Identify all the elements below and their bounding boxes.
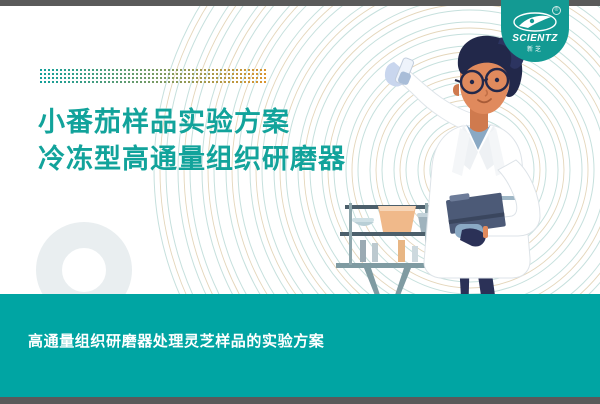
dot-grid-dot bbox=[108, 77, 110, 79]
dot-grid-dot bbox=[156, 73, 158, 75]
dot-grid-dot bbox=[180, 81, 182, 83]
dot-grid-dot bbox=[168, 81, 170, 83]
arm-with-clipboard bbox=[445, 160, 540, 247]
dot-grid-dot bbox=[184, 81, 186, 83]
dot-grid-dot bbox=[136, 69, 138, 71]
dot-grid-dot bbox=[136, 81, 138, 83]
dot-grid-dot bbox=[140, 73, 142, 75]
dot-grid-dot bbox=[48, 81, 50, 83]
dot-grid-dot bbox=[116, 73, 118, 75]
dot-grid-dot bbox=[68, 73, 70, 75]
dot-grid-dot bbox=[204, 69, 206, 71]
dot-grid-dot bbox=[84, 77, 86, 79]
dot-grid-dot bbox=[96, 81, 98, 83]
dot-grid-dot bbox=[84, 73, 86, 75]
dot-grid-dot bbox=[72, 69, 74, 71]
dot-grid-dot bbox=[176, 77, 178, 79]
dot-grid-dot bbox=[80, 69, 82, 71]
dot-grid-dot bbox=[228, 81, 230, 83]
dot-grid-dot bbox=[232, 69, 234, 71]
dot-grid-dot bbox=[144, 73, 146, 75]
dot-grid-dot bbox=[220, 77, 222, 79]
dot-grid-dot bbox=[100, 73, 102, 75]
dot-grid-dot bbox=[64, 69, 66, 71]
dot-grid-dot bbox=[64, 73, 66, 75]
dot-grid-dot bbox=[176, 73, 178, 75]
dot-grid-dot bbox=[144, 77, 146, 79]
dot-grid-dot bbox=[188, 81, 190, 83]
dot-grid-dot bbox=[80, 73, 82, 75]
dot-grid-dot bbox=[140, 81, 142, 83]
dot-grid-dot bbox=[48, 69, 50, 71]
dot-grid-row bbox=[40, 81, 268, 83]
dot-grid-dot bbox=[108, 73, 110, 75]
dot-grid-dot bbox=[100, 81, 102, 83]
dot-grid-dot bbox=[128, 77, 130, 79]
dot-grid-dot bbox=[136, 73, 138, 75]
dot-grid-dot bbox=[44, 77, 46, 79]
dot-grid-dot bbox=[52, 69, 54, 71]
dot-grid-dot bbox=[192, 81, 194, 83]
dot-grid-dot bbox=[216, 73, 218, 75]
dot-grid-dot bbox=[184, 69, 186, 71]
dot-grid-dot bbox=[204, 73, 206, 75]
dot-grid-dot bbox=[228, 69, 230, 71]
dot-grid-dot bbox=[132, 69, 134, 71]
dot-grid-dot bbox=[124, 81, 126, 83]
dot-grid-dot bbox=[152, 73, 154, 75]
dot-grid-dot bbox=[184, 73, 186, 75]
dot-grid-dot bbox=[120, 81, 122, 83]
dot-grid-dot bbox=[56, 69, 58, 71]
dot-grid-dot bbox=[240, 73, 242, 75]
dot-grid-dot bbox=[248, 77, 250, 79]
dot-grid-dot bbox=[252, 77, 254, 79]
dot-grid-dot bbox=[68, 69, 70, 71]
dot-grid-dot bbox=[92, 73, 94, 75]
dot-grid-dot bbox=[40, 73, 42, 75]
dot-grid-dot bbox=[204, 77, 206, 79]
dot-grid-dot bbox=[100, 77, 102, 79]
dot-grid-dot bbox=[52, 77, 54, 79]
dot-grid-dot bbox=[84, 69, 86, 71]
dot-grid-dot bbox=[232, 81, 234, 83]
logo-wordmark: SCIENTZ bbox=[501, 33, 569, 44]
dot-grid-dot bbox=[236, 73, 238, 75]
dot-grid-dot bbox=[224, 81, 226, 83]
dot-grid-row bbox=[40, 73, 268, 75]
dot-grid-dot bbox=[112, 73, 114, 75]
dot-grid-dot bbox=[196, 73, 198, 75]
dot-grid-dot bbox=[260, 81, 262, 83]
dot-grid-dot bbox=[236, 77, 238, 79]
dot-grid-dot bbox=[120, 73, 122, 75]
footer-banner: 高通量组织研磨器处理灵芝样品的实验方案 bbox=[0, 294, 600, 397]
dot-grid-dot bbox=[172, 73, 174, 75]
dot-grid-dot bbox=[112, 81, 114, 83]
dot-grid-dot bbox=[200, 77, 202, 79]
dot-grid-dot bbox=[264, 81, 266, 83]
dot-grid-dot bbox=[112, 77, 114, 79]
dot-grid-dot bbox=[132, 81, 134, 83]
dot-grid-dot bbox=[88, 77, 90, 79]
dot-grid-dot bbox=[228, 77, 230, 79]
dot-grid-dot bbox=[80, 77, 82, 79]
dot-grid-dot bbox=[160, 69, 162, 71]
dot-grid-dot bbox=[148, 81, 150, 83]
dot-grid-dot bbox=[148, 73, 150, 75]
dot-grid-dot bbox=[164, 69, 166, 71]
dot-grid-dot bbox=[124, 73, 126, 75]
dot-grid-dot bbox=[172, 81, 174, 83]
dot-grid-dot bbox=[136, 77, 138, 79]
dot-grid-dot bbox=[200, 73, 202, 75]
dot-grid-dot bbox=[68, 77, 70, 79]
dot-grid-dot bbox=[256, 77, 258, 79]
dot-grid-dot bbox=[264, 77, 266, 79]
dot-grid-dot bbox=[236, 81, 238, 83]
dot-grid-dot bbox=[172, 77, 174, 79]
dot-grid-dot bbox=[196, 69, 198, 71]
dot-grid-dot bbox=[184, 77, 186, 79]
dot-grid-dot bbox=[64, 81, 66, 83]
dot-grid-dot bbox=[96, 69, 98, 71]
dot-grid-dot bbox=[216, 81, 218, 83]
dot-grid-dot bbox=[108, 69, 110, 71]
dot-grid-dot bbox=[260, 77, 262, 79]
logo-chinese-name: 新芝 bbox=[501, 44, 569, 53]
dot-grid-dot bbox=[212, 69, 214, 71]
poster-canvas: 小番茄样品实验方案 冷冻型高通量组织研磨器 bbox=[0, 0, 600, 404]
dot-grid-dot bbox=[240, 77, 242, 79]
dot-grid-dot bbox=[192, 77, 194, 79]
dot-grid-dot bbox=[104, 77, 106, 79]
dot-grid-dot bbox=[260, 69, 262, 71]
dot-grid-dot bbox=[208, 77, 210, 79]
dot-grid-dot bbox=[252, 73, 254, 75]
dot-grid-dot bbox=[128, 81, 130, 83]
lab-coat bbox=[424, 124, 530, 278]
dot-grid-dot bbox=[88, 69, 90, 71]
dot-grid-dot bbox=[72, 77, 74, 79]
dot-grid-dot bbox=[60, 81, 62, 83]
dot-grid-dot bbox=[212, 81, 214, 83]
dot-grid-dot bbox=[120, 69, 122, 71]
dot-grid-dot bbox=[240, 69, 242, 71]
dot-grid-dot bbox=[56, 77, 58, 79]
dot-grid-dot bbox=[228, 73, 230, 75]
dot-grid-dot bbox=[152, 69, 154, 71]
dot-grid-dot bbox=[80, 81, 82, 83]
dot-grid-dot bbox=[220, 73, 222, 75]
dot-grid-dot bbox=[160, 81, 162, 83]
dot-grid-dot bbox=[152, 81, 154, 83]
dot-grid-dot bbox=[248, 69, 250, 71]
dot-grid-decoration bbox=[40, 69, 268, 85]
dot-grid-dot bbox=[252, 69, 254, 71]
dot-grid-dot bbox=[68, 81, 70, 83]
dot-grid-dot bbox=[168, 77, 170, 79]
dot-grid-dot bbox=[248, 73, 250, 75]
dot-grid-dot bbox=[104, 81, 106, 83]
footer-banner-text: 高通量组织研磨器处理灵芝样品的实验方案 bbox=[28, 330, 324, 351]
dot-grid-dot bbox=[244, 69, 246, 71]
dot-grid-dot bbox=[44, 73, 46, 75]
dot-grid-dot bbox=[224, 69, 226, 71]
dot-grid-dot bbox=[244, 77, 246, 79]
dot-grid-dot bbox=[188, 69, 190, 71]
dot-grid-dot bbox=[164, 73, 166, 75]
dot-grid-dot bbox=[140, 77, 142, 79]
dot-grid-dot bbox=[156, 81, 158, 83]
dot-grid-dot bbox=[160, 73, 162, 75]
dot-grid-dot bbox=[200, 69, 202, 71]
dot-grid-dot bbox=[100, 69, 102, 71]
dot-grid-dot bbox=[44, 81, 46, 83]
dot-grid-dot bbox=[204, 81, 206, 83]
dot-grid-dot bbox=[216, 77, 218, 79]
dot-grid-dot bbox=[188, 73, 190, 75]
dot-grid-dot bbox=[40, 69, 42, 71]
dot-grid-dot bbox=[104, 73, 106, 75]
dot-grid-dot bbox=[264, 73, 266, 75]
dot-grid-dot bbox=[60, 69, 62, 71]
dot-grid-dot bbox=[52, 81, 54, 83]
dot-grid-dot bbox=[92, 77, 94, 79]
dot-grid-dot bbox=[40, 77, 42, 79]
dot-grid-dot bbox=[188, 77, 190, 79]
dot-grid-dot bbox=[164, 77, 166, 79]
dot-grid-dot bbox=[76, 69, 78, 71]
lab-cart-icon bbox=[336, 203, 441, 298]
dot-grid-dot bbox=[108, 81, 110, 83]
dot-grid-dot bbox=[264, 69, 266, 71]
dot-grid-dot bbox=[208, 81, 210, 83]
dot-grid-dot bbox=[224, 77, 226, 79]
dot-grid-dot bbox=[224, 73, 226, 75]
dot-grid-dot bbox=[216, 69, 218, 71]
dot-grid-row bbox=[40, 77, 268, 79]
dot-grid-dot bbox=[212, 77, 214, 79]
dot-grid-dot bbox=[168, 69, 170, 71]
dot-grid-dot bbox=[116, 69, 118, 71]
dot-grid-dot bbox=[200, 81, 202, 83]
dot-grid-dot bbox=[196, 77, 198, 79]
dot-grid-dot bbox=[244, 73, 246, 75]
headline-line-2: 冷冻型高通量组织研磨器 bbox=[38, 141, 346, 178]
scientz-logo[interactable]: ® SCIENTZ 新芝 bbox=[501, 0, 569, 62]
dot-grid-dot bbox=[252, 81, 254, 83]
dot-grid-dot bbox=[140, 69, 142, 71]
dot-grid-dot bbox=[196, 81, 198, 83]
raised-arm bbox=[385, 57, 477, 132]
dot-grid-dot bbox=[104, 69, 106, 71]
dot-grid-dot bbox=[72, 81, 74, 83]
dot-grid-dot bbox=[180, 73, 182, 75]
dot-grid-dot bbox=[236, 69, 238, 71]
dot-grid-dot bbox=[92, 81, 94, 83]
dot-grid-dot bbox=[44, 69, 46, 71]
dot-grid-dot bbox=[180, 77, 182, 79]
dot-grid-dot bbox=[56, 73, 58, 75]
dot-grid-dot bbox=[48, 73, 50, 75]
dot-grid-dot bbox=[148, 69, 150, 71]
dot-grid-dot bbox=[148, 77, 150, 79]
bottom-edge-bar bbox=[0, 397, 600, 404]
dot-grid-dot bbox=[168, 73, 170, 75]
dot-grid-dot bbox=[64, 77, 66, 79]
dot-grid-dot bbox=[96, 73, 98, 75]
dot-grid-dot bbox=[132, 73, 134, 75]
dot-grid-dot bbox=[248, 81, 250, 83]
dot-grid-dot bbox=[116, 81, 118, 83]
dot-grid-dot bbox=[192, 69, 194, 71]
dot-grid-dot bbox=[220, 81, 222, 83]
dot-grid-dot bbox=[128, 73, 130, 75]
dot-grid-dot bbox=[172, 69, 174, 71]
dot-grid-dot bbox=[244, 81, 246, 83]
dot-grid-dot bbox=[176, 81, 178, 83]
dot-grid-dot bbox=[112, 69, 114, 71]
dot-grid-dot bbox=[180, 69, 182, 71]
dot-grid-dot bbox=[232, 73, 234, 75]
dot-grid-dot bbox=[232, 77, 234, 79]
dot-grid-dot bbox=[56, 81, 58, 83]
dot-grid-dot bbox=[116, 77, 118, 79]
dot-grid-dot bbox=[164, 81, 166, 83]
dot-grid-dot bbox=[152, 77, 154, 79]
dot-grid-dot bbox=[76, 77, 78, 79]
dot-grid-dot bbox=[256, 73, 258, 75]
dot-grid-dot bbox=[156, 77, 158, 79]
dot-grid-dot bbox=[208, 73, 210, 75]
dot-grid-dot bbox=[124, 77, 126, 79]
dot-grid-dot bbox=[220, 69, 222, 71]
dot-grid-dot bbox=[60, 77, 62, 79]
dot-grid-dot bbox=[176, 69, 178, 71]
page-title: 小番茄样品实验方案 冷冻型高通量组织研磨器 bbox=[38, 104, 346, 178]
dot-grid-dot bbox=[128, 69, 130, 71]
dot-grid-dot bbox=[156, 69, 158, 71]
dot-grid-dot bbox=[76, 81, 78, 83]
dot-grid-dot bbox=[260, 73, 262, 75]
dot-grid-dot bbox=[84, 81, 86, 83]
dot-grid-dot bbox=[52, 73, 54, 75]
dot-grid-dot bbox=[88, 81, 90, 83]
dot-grid-dot bbox=[40, 81, 42, 83]
dot-grid-dot bbox=[256, 81, 258, 83]
dot-grid-dot bbox=[132, 77, 134, 79]
dot-grid-dot bbox=[144, 69, 146, 71]
dot-grid-dot bbox=[92, 69, 94, 71]
dot-grid-dot bbox=[192, 73, 194, 75]
dot-grid-dot bbox=[144, 81, 146, 83]
headline-line-1: 小番茄样品实验方案 bbox=[38, 104, 346, 141]
dot-grid-dot bbox=[76, 73, 78, 75]
dot-grid-dot bbox=[48, 77, 50, 79]
dot-grid-row bbox=[40, 69, 268, 71]
dot-grid-dot bbox=[60, 73, 62, 75]
dot-grid-dot bbox=[160, 77, 162, 79]
dot-grid-dot bbox=[96, 77, 98, 79]
dot-grid-dot bbox=[88, 73, 90, 75]
dot-grid-dot bbox=[124, 69, 126, 71]
dot-grid-dot bbox=[212, 73, 214, 75]
dot-grid-dot bbox=[72, 73, 74, 75]
dot-grid-dot bbox=[256, 69, 258, 71]
logo-swoosh-icon bbox=[512, 12, 558, 32]
dot-grid-dot bbox=[120, 77, 122, 79]
dot-grid-dot bbox=[208, 69, 210, 71]
dot-grid-dot bbox=[240, 81, 242, 83]
